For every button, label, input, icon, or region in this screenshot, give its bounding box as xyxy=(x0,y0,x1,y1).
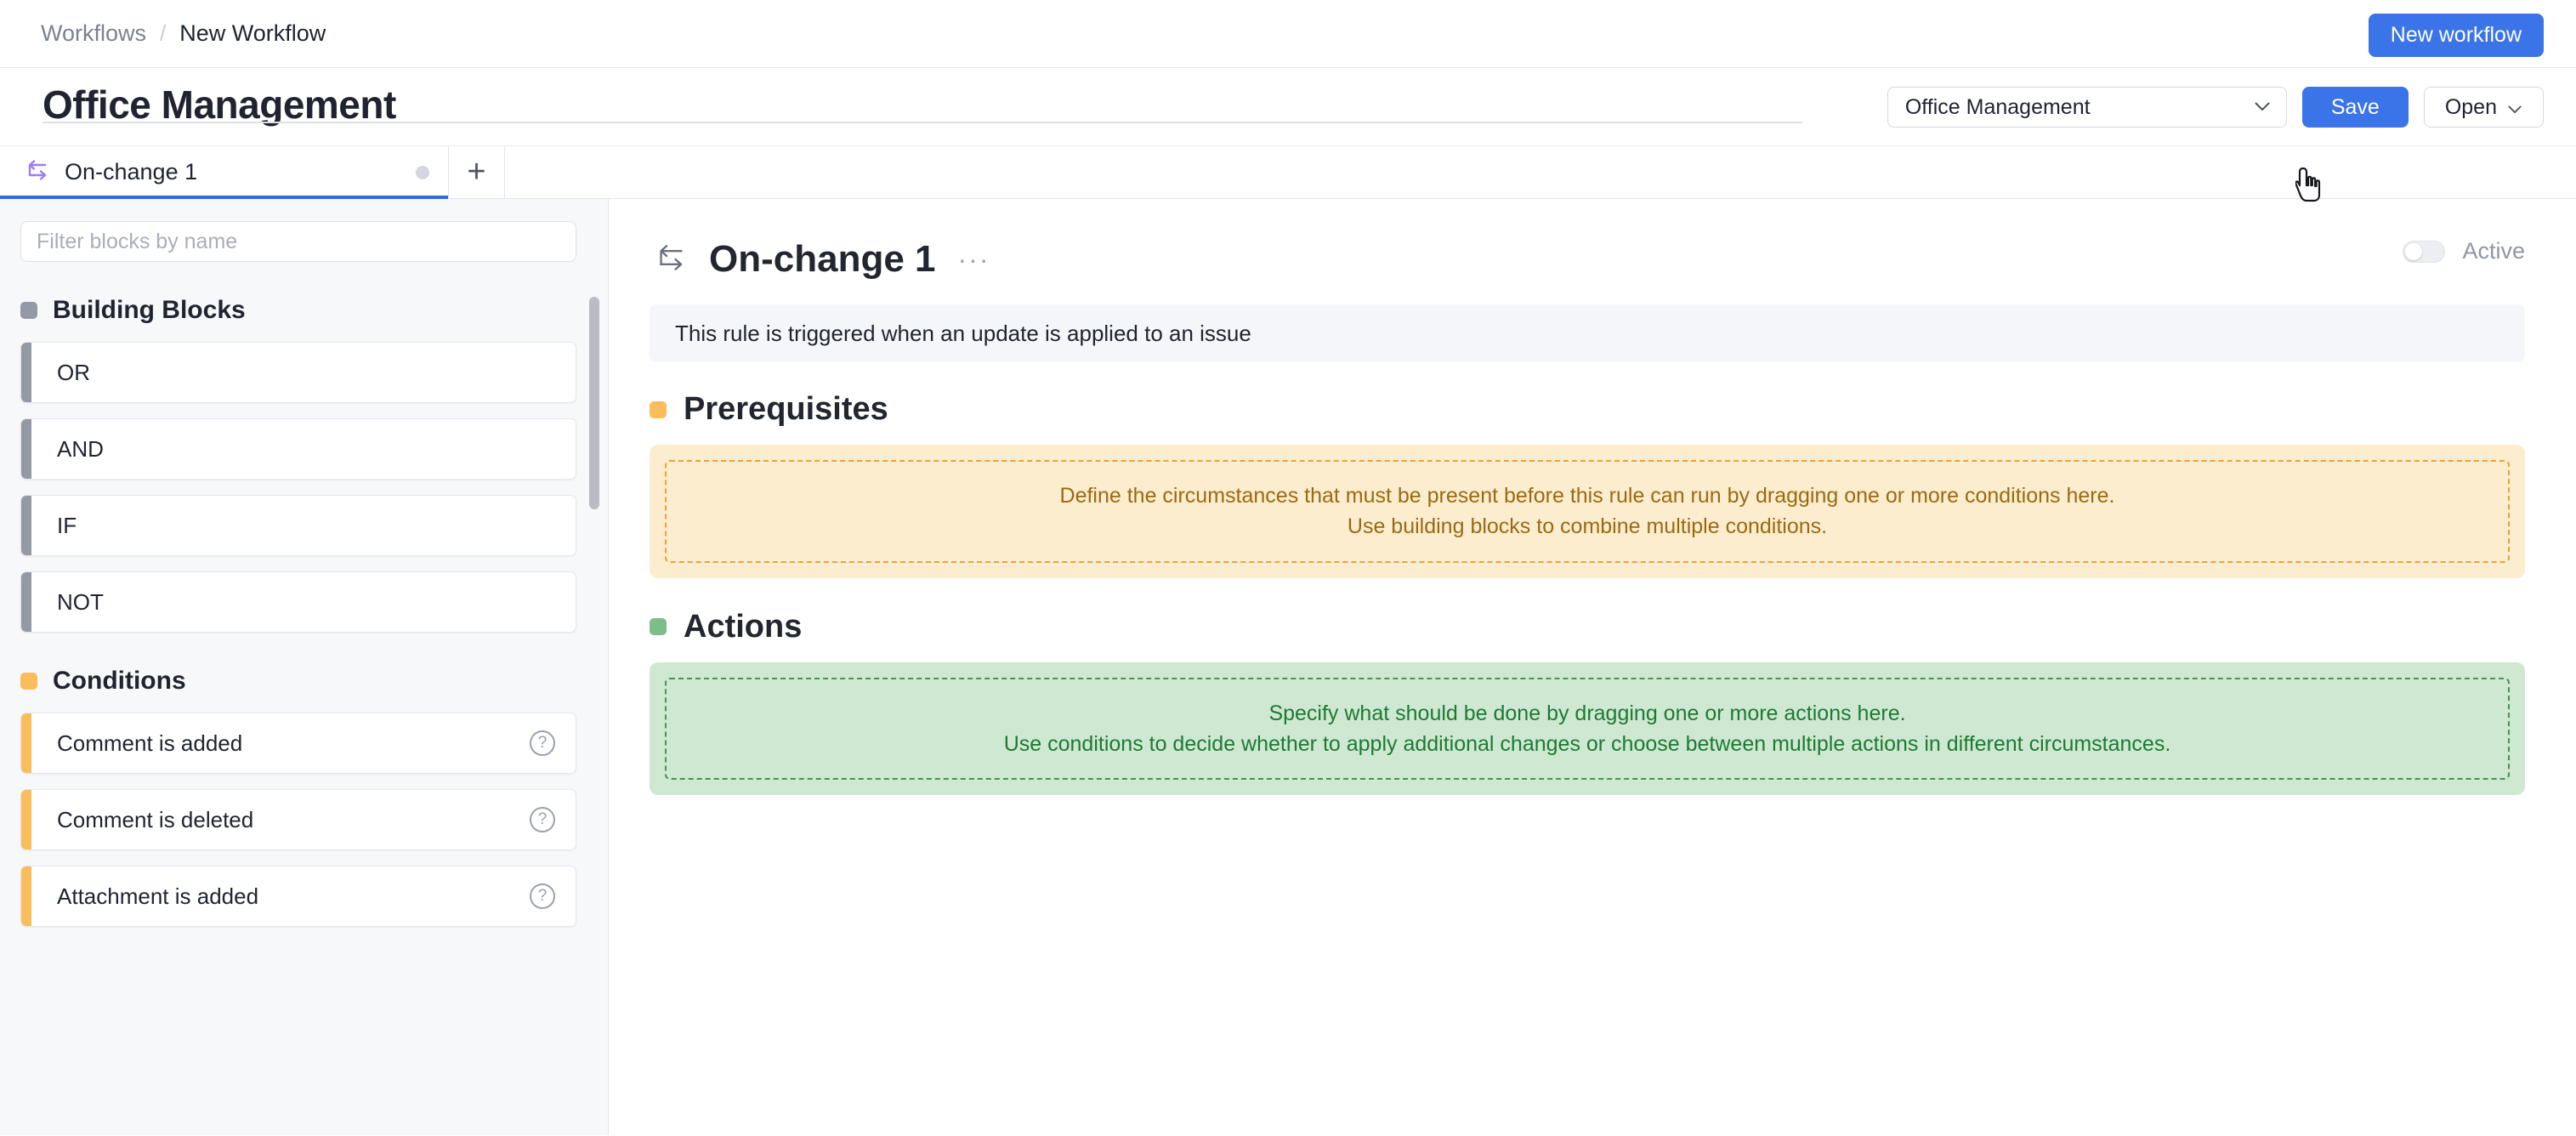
group-title: Building Blocks xyxy=(53,296,246,325)
block-card-label: Attachment is added xyxy=(21,883,530,910)
prerequisites-dropzone[interactable]: Define the circumstances that must be pr… xyxy=(650,445,2525,578)
block-card-label: Comment is deleted xyxy=(21,807,530,833)
trigger-description-text: This rule is triggered when an update is… xyxy=(675,321,1251,347)
section-title: Prerequisites xyxy=(684,391,888,428)
card-accent-bar xyxy=(21,572,31,632)
open-button-label: Open xyxy=(2445,95,2497,120)
trigger-description: This rule is triggered when an update is… xyxy=(650,304,2525,362)
block-card-label: AND xyxy=(21,436,576,463)
filter-blocks-input[interactable] xyxy=(20,221,576,262)
tab-label: On-change 1 xyxy=(65,159,400,185)
page-title[interactable]: Office Management xyxy=(43,82,396,133)
add-tab-button[interactable]: + xyxy=(449,146,505,198)
title-actions: Office Management Save Open xyxy=(1887,87,2544,128)
block-card-comment-is-added[interactable]: Comment is added ? xyxy=(20,713,576,774)
top-bar: Workflows / New Workflow New workflow xyxy=(0,0,2576,68)
sidebar-scrollbar[interactable] xyxy=(589,297,599,1135)
save-button[interactable]: Save xyxy=(2302,87,2409,128)
block-card-label: Comment is added xyxy=(21,730,530,757)
actions-dropzone-inner[interactable]: Specify what should be done by dragging … xyxy=(665,678,2510,781)
breadcrumb-separator: / xyxy=(160,20,166,47)
blocks-sidebar: Building Blocks OR AND IF NOT Conditions… xyxy=(0,199,609,1135)
active-toggle-group: Active xyxy=(2403,238,2525,264)
dropzone-line-2: Use conditions to decide whether to appl… xyxy=(1004,729,2171,759)
active-toggle-label: Active xyxy=(2462,238,2525,264)
body: Building Blocks OR AND IF NOT Conditions… xyxy=(0,199,2576,1135)
open-button[interactable]: Open xyxy=(2424,87,2544,128)
prerequisites-dropzone-inner[interactable]: Define the circumstances that must be pr… xyxy=(665,460,2510,563)
dropzone-line-2: Use building blocks to combine multiple … xyxy=(1348,511,1827,542)
help-icon[interactable]: ? xyxy=(530,807,555,832)
chevron-down-icon xyxy=(2507,95,2522,120)
section-marker-icon xyxy=(650,618,667,635)
on-change-arrows-icon xyxy=(653,243,687,276)
workflow-select-value: Office Management xyxy=(1905,95,2091,120)
card-accent-bar xyxy=(21,790,31,849)
active-toggle-switch[interactable] xyxy=(2403,241,2445,263)
card-accent-bar xyxy=(21,343,31,402)
sidebar-group-building-blocks: Building Blocks xyxy=(20,296,582,325)
section-header-prerequisites: Prerequisites xyxy=(650,391,2525,428)
block-card-comment-is-deleted[interactable]: Comment is deleted ? xyxy=(20,789,576,850)
rule-header: On-change 1 ··· xyxy=(653,238,2525,281)
block-card-label: OR xyxy=(21,360,576,386)
dropzone-line-1: Specify what should be done by dragging … xyxy=(1268,698,1905,729)
on-change-arrows-icon xyxy=(24,159,49,185)
block-card-not[interactable]: NOT xyxy=(20,571,576,633)
rule-menu-button[interactable]: ··· xyxy=(958,244,990,275)
section-marker-icon xyxy=(650,401,667,418)
group-marker-icon xyxy=(20,302,37,319)
help-icon[interactable]: ? xyxy=(530,730,555,756)
section-title: Actions xyxy=(684,609,802,645)
section-header-actions: Actions xyxy=(650,609,2525,645)
card-accent-bar xyxy=(21,866,31,926)
block-card-attachment-is-added[interactable]: Attachment is added ? xyxy=(20,866,576,927)
tab-unsaved-dot[interactable] xyxy=(416,166,429,179)
breadcrumb: Workflows / New Workflow xyxy=(41,20,326,47)
block-card-label: IF xyxy=(21,513,576,539)
card-accent-bar xyxy=(21,713,31,773)
group-title: Conditions xyxy=(53,667,186,696)
sidebar-group-conditions: Conditions xyxy=(20,667,582,696)
card-accent-bar xyxy=(21,496,31,555)
new-workflow-button[interactable]: New workflow xyxy=(2369,14,2544,57)
workflow-select[interactable]: Office Management xyxy=(1887,87,2287,128)
block-card-label: NOT xyxy=(21,589,576,616)
page-title-underline xyxy=(43,122,1802,123)
block-card-or[interactable]: OR xyxy=(20,342,576,403)
card-accent-bar xyxy=(21,419,31,479)
rule-title[interactable]: On-change 1 xyxy=(709,238,936,281)
group-marker-icon xyxy=(20,673,37,690)
breadcrumb-workflows-link[interactable]: Workflows xyxy=(41,20,146,47)
help-icon[interactable]: ? xyxy=(530,883,555,909)
dropzone-line-1: Define the circumstances that must be pr… xyxy=(1060,480,2115,511)
tab-on-change-1[interactable]: On-change 1 xyxy=(0,146,449,198)
block-card-if[interactable]: IF xyxy=(20,495,576,556)
block-card-and[interactable]: AND xyxy=(20,418,576,480)
rule-editor-panel: On-change 1 ··· Active This rule is trig… xyxy=(609,199,2576,1135)
sidebar-scrollbar-thumb[interactable] xyxy=(589,297,599,509)
title-bar: Office Management Office Management Save… xyxy=(0,68,2576,146)
actions-dropzone[interactable]: Specify what should be done by dragging … xyxy=(650,662,2525,796)
tab-strip: On-change 1 + xyxy=(0,146,2576,199)
toggle-knob xyxy=(2405,243,2422,260)
chevron-down-icon xyxy=(2254,98,2271,116)
breadcrumb-current: New Workflow xyxy=(179,20,326,47)
